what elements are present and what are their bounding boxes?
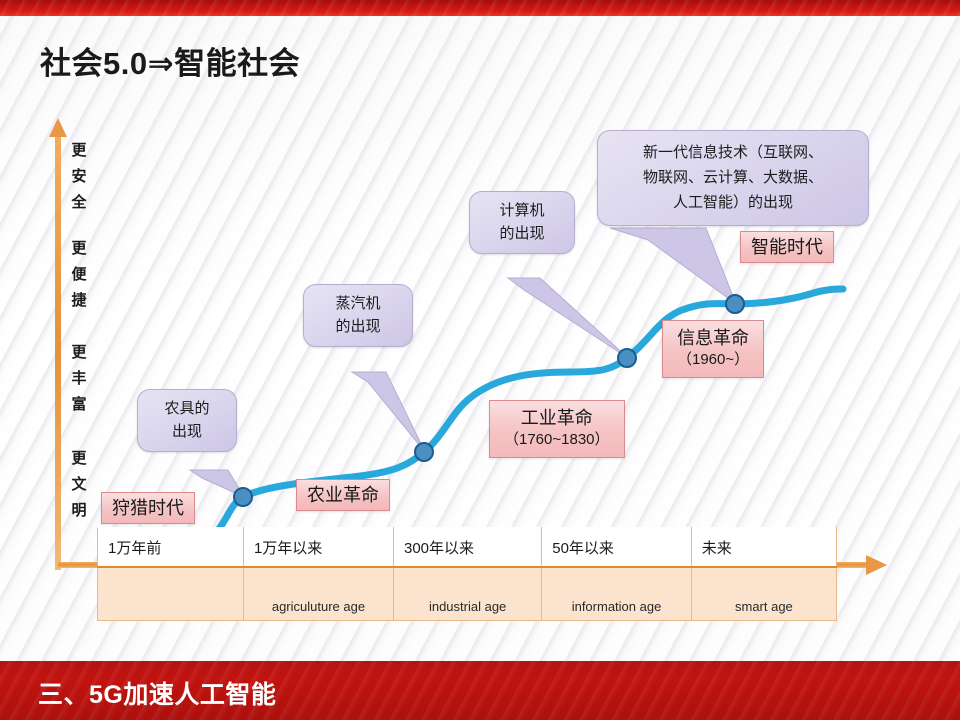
callout-new-it-line1: 新一代信息技术（互联网、: [598, 131, 868, 166]
callout-computer[interactable]: 计算机 的出现: [469, 191, 575, 254]
era-box-agricultural-revolution-label: 农业革命: [307, 483, 379, 507]
era-box-smart-age-label: 智能时代: [751, 235, 823, 259]
y-label-char: 丰: [66, 366, 92, 392]
y-label-char: 更: [66, 138, 92, 164]
timeline-chart: 更 安 全 更 便 捷 更 丰 富 更 文 明 1万年前 1万年以来 300年以…: [0, 0, 960, 660]
age-cell-1: agriculuture age: [243, 567, 393, 621]
age-cell-3: information age: [542, 567, 692, 621]
era-box-industrial-revolution-label: 工业革命: [504, 406, 610, 430]
slide-canvas: 社会5.0⇒智能社会: [0, 0, 960, 720]
y-label-char: 全: [66, 190, 92, 216]
y-label-char: 更: [66, 446, 92, 472]
callout-new-it-line2: 物联网、云计算、大数据、: [598, 166, 868, 191]
callout-tails: [190, 228, 736, 497]
callout-new-it[interactable]: 新一代信息技术（互联网、 物联网、云计算、大数据、 人工智能）的出现: [597, 130, 869, 226]
era-box-hunting-age-label: 狩猎时代: [112, 496, 184, 520]
table-row-periods-cn: 1万年前 1万年以来 300年以来 50年以来 未来: [98, 528, 837, 568]
age-cell-0: [98, 567, 244, 621]
callout-steam-engine[interactable]: 蒸汽机 的出现: [303, 284, 413, 347]
era-box-hunting-age[interactable]: 狩猎时代: [101, 492, 195, 524]
period-cell-0: 1万年前: [98, 528, 244, 568]
y-label-char: 富: [66, 392, 92, 418]
y-label-more-convenient: 更 便 捷: [66, 236, 92, 314]
table-row-periods-en: agriculuture age industrial age informat…: [98, 567, 837, 621]
bottom-red-band: 三、5G加速人工智能: [0, 661, 960, 720]
period-cell-2: 300年以来: [394, 528, 542, 568]
age-cell-4: smart age: [691, 567, 836, 621]
era-box-information-revolution[interactable]: 信息革命 （1960~）: [662, 320, 764, 378]
y-label-char: 便: [66, 262, 92, 288]
y-axis: [49, 118, 67, 570]
callout-farm-tools[interactable]: 农具的 出现: [137, 389, 237, 452]
y-label-char: 文: [66, 472, 92, 498]
section-footer-label: 三、5G加速人工智能: [38, 675, 276, 711]
callout-steam-engine-line1: 蒸汽机: [304, 285, 412, 316]
age-cell-2: industrial age: [394, 567, 542, 621]
y-label-more-civilized: 更 文 明: [66, 446, 92, 524]
callout-new-it-line3: 人工智能）的出现: [598, 191, 868, 226]
y-label-more-abundant: 更 丰 富: [66, 340, 92, 418]
y-label-char: 明: [66, 498, 92, 524]
callout-farm-tools-line1: 农具的: [138, 390, 236, 421]
era-box-industrial-revolution-years: （1760~1830）: [504, 430, 610, 450]
era-box-agricultural-revolution[interactable]: 农业革命: [296, 479, 390, 511]
callout-steam-engine-line2: 的出现: [304, 316, 412, 347]
y-label-char: 安: [66, 164, 92, 190]
era-box-smart-age[interactable]: 智能时代: [740, 231, 834, 263]
era-box-information-revolution-years: （1960~）: [677, 350, 749, 370]
y-label-char: 捷: [66, 288, 92, 314]
y-label-char: 更: [66, 236, 92, 262]
y-label-char: 更: [66, 340, 92, 366]
period-table: 1万年前 1万年以来 300年以来 50年以来 未来 agriculuture …: [97, 527, 837, 621]
period-cell-3: 50年以来: [542, 528, 692, 568]
callout-computer-line2: 的出现: [470, 223, 574, 254]
y-label-safer: 更 安 全: [66, 138, 92, 216]
callout-computer-line1: 计算机: [470, 192, 574, 223]
period-cell-4: 未来: [691, 528, 836, 568]
callout-farm-tools-line2: 出现: [138, 421, 236, 452]
era-box-industrial-revolution[interactable]: 工业革命 （1760~1830）: [489, 400, 625, 458]
period-cell-1: 1万年以来: [243, 528, 393, 568]
era-box-information-revolution-label: 信息革命: [677, 326, 749, 350]
